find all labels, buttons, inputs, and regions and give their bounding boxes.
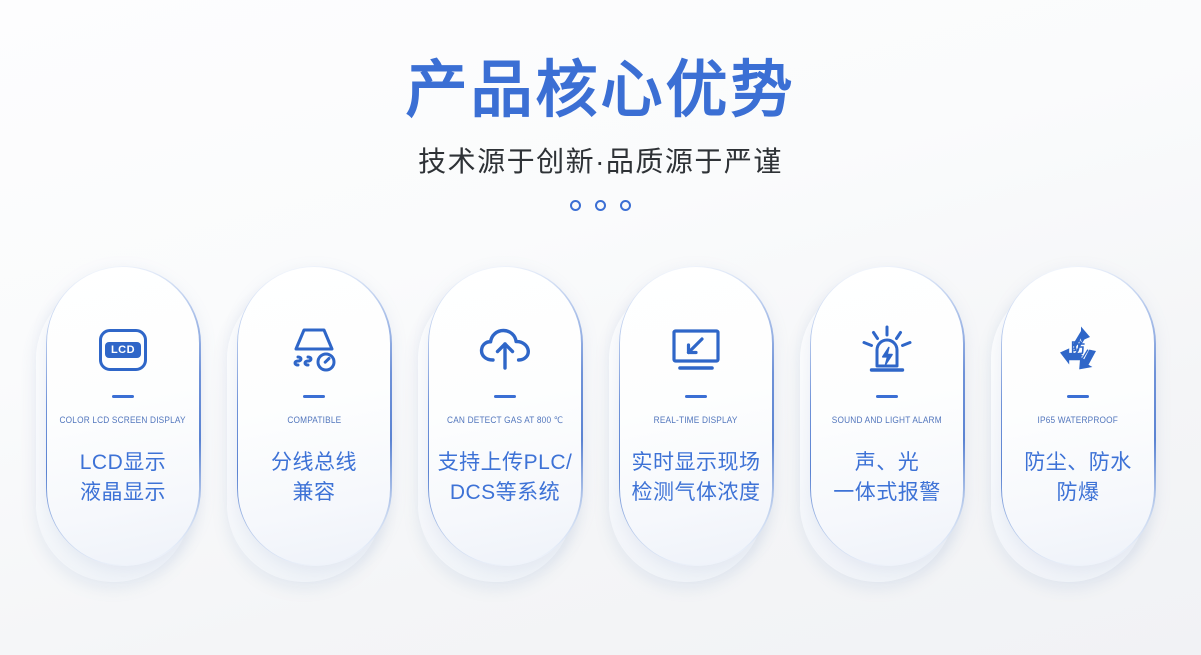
monitor-arrow-icon bbox=[668, 321, 724, 379]
protection-recycle-icon: 防 bbox=[1050, 321, 1106, 379]
card-title-line2: 兼容 bbox=[271, 478, 357, 508]
card-eyebrow-label: COLOR LCD SCREEN DISPLAY bbox=[60, 415, 186, 426]
page-title: 产品核心优势 bbox=[0, 58, 1201, 123]
card-title: 声、光 一体式报警 bbox=[833, 448, 941, 508]
card-title-line2: 防爆 bbox=[1024, 478, 1132, 508]
card-title: 分线总线 兼容 bbox=[271, 448, 357, 508]
card-title-line1: LCD显示 bbox=[80, 451, 167, 474]
card-divider bbox=[876, 395, 898, 398]
card-divider bbox=[685, 395, 707, 398]
feature-card-row: LCD COLOR LCD SCREEN DISPLAY LCD显示 液晶显示 bbox=[0, 266, 1201, 578]
dot-icon bbox=[595, 200, 606, 211]
cloud-upload-icon bbox=[476, 321, 534, 379]
card-eyebrow-label: SOUND AND LIGHT ALARM bbox=[832, 415, 942, 426]
protection-icon-char: 防 bbox=[1071, 340, 1085, 356]
card-title-line1: 实时显示现场 bbox=[632, 451, 761, 474]
card-eyebrow-label: CAN DETECT GAS AT 800 ℃ bbox=[447, 415, 563, 426]
card-title-line2: 一体式报警 bbox=[833, 478, 941, 508]
card-divider bbox=[494, 395, 516, 398]
alarm-siren-icon bbox=[859, 321, 915, 379]
feature-card-sound-light-alarm[interactable]: SOUND AND LIGHT ALARM 声、光 一体式报警 bbox=[810, 266, 965, 578]
decorative-dots bbox=[0, 200, 1201, 211]
feature-card-lcd-display[interactable]: LCD COLOR LCD SCREEN DISPLAY LCD显示 液晶显示 bbox=[46, 266, 201, 578]
feature-card-realtime-display[interactable]: REAL-TIME DISPLAY 实时显示现场 检测气体浓度 bbox=[619, 266, 774, 578]
card-title: 支持上传PLC/ DCS等系统 bbox=[438, 448, 573, 508]
card-eyebrow-label: IP65 WATERPROOF bbox=[1038, 415, 1119, 426]
card-title-line1: 防尘、防水 bbox=[1024, 451, 1132, 474]
card-divider bbox=[112, 395, 134, 398]
card-title-line1: 支持上传PLC/ bbox=[438, 451, 573, 474]
card-title-line1: 声、光 bbox=[855, 451, 920, 474]
card-title: LCD显示 液晶显示 bbox=[80, 448, 167, 508]
card-divider bbox=[1067, 395, 1089, 398]
card-title-line2: 液晶显示 bbox=[80, 478, 167, 508]
dot-icon bbox=[620, 200, 631, 211]
card-divider bbox=[303, 395, 325, 398]
feature-card-ip65-waterproof[interactable]: 防 IP65 WATERPROOF 防尘、防水 防爆 bbox=[1001, 266, 1156, 578]
card-title-line2: 检测气体浓度 bbox=[632, 478, 761, 508]
dot-icon bbox=[570, 200, 581, 211]
page-header: 产品核心优势 技术源于创新·品质源于严谨 bbox=[0, 0, 1201, 211]
feature-card-cloud-upload[interactable]: CAN DETECT GAS AT 800 ℃ 支持上传PLC/ DCS等系统 bbox=[428, 266, 583, 578]
card-eyebrow-label: COMPATIBLE bbox=[287, 415, 341, 426]
card-title-line2: DCS等系统 bbox=[438, 478, 573, 508]
card-eyebrow-label: REAL-TIME DISPLAY bbox=[654, 415, 738, 426]
page-subtitle: 技术源于创新·品质源于严谨 bbox=[0, 140, 1201, 180]
card-title: 实时显示现场 检测气体浓度 bbox=[632, 448, 761, 508]
lcd-screen-icon: LCD bbox=[99, 321, 147, 379]
card-title: 防尘、防水 防爆 bbox=[1024, 448, 1132, 508]
card-title-line1: 分线总线 bbox=[271, 451, 357, 474]
lcd-chip-label: LCD bbox=[105, 342, 141, 358]
feature-card-compatible[interactable]: COMPATIBLE 分线总线 兼容 bbox=[237, 266, 392, 578]
gas-sensor-gauge-icon bbox=[288, 321, 340, 379]
